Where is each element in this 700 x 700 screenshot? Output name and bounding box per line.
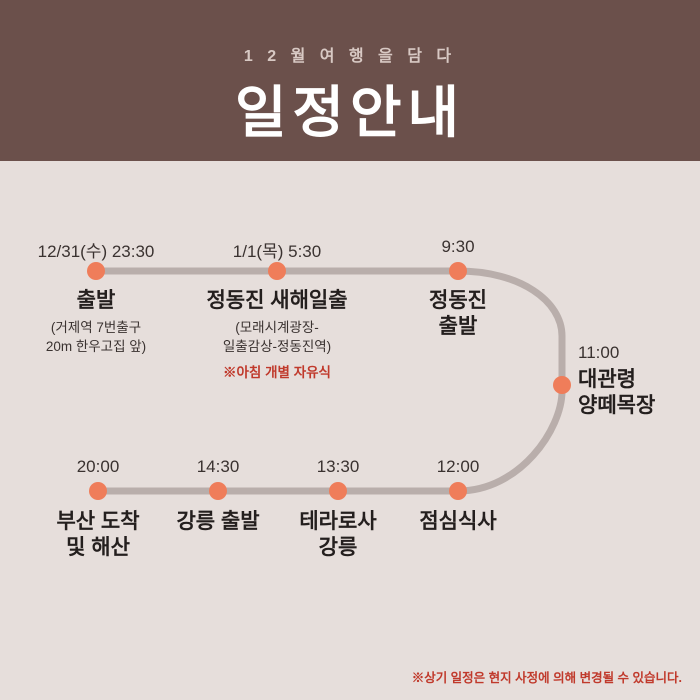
stop-note-2: ※아침 개별 자유식: [107, 361, 447, 381]
header-subtitle: 1 2 월 여 행 을 담 다: [0, 42, 700, 66]
stop-node-7[interactable]: [209, 482, 227, 500]
stop-time-5: 12:00: [437, 457, 480, 477]
stop-time-2: 1/1(목) 5:30: [233, 237, 321, 262]
stop-node-1[interactable]: [87, 262, 105, 280]
stop-node-5[interactable]: [449, 482, 467, 500]
footnote: ※상기 일정은 현지 사정에 의해 변경될 수 있습니다.: [412, 667, 682, 686]
stop-label-3: 정동진 출발: [338, 288, 578, 339]
stop-time-8: 20:00: [77, 457, 120, 477]
stop-node-4[interactable]: [553, 376, 571, 394]
stop-node-6[interactable]: [329, 482, 347, 500]
stop-time-7: 14:30: [197, 457, 240, 477]
stop-time-6: 13:30: [317, 457, 360, 477]
stop-node-3[interactable]: [449, 262, 467, 280]
itinerary-timeline-diagram: 12/31(수) 23:30 출발 (거제역 7번출구 20m 한우고집 앞) …: [0, 161, 700, 700]
stop-name-8: 부산 도착 및 해산: [0, 509, 203, 560]
stop-name-4: 대관령 양떼목장: [578, 367, 700, 418]
header-banner: 1 2 월 여 행 을 담 다 일정안내: [0, 0, 700, 161]
page-title: 일정안내: [0, 68, 700, 149]
stop-time-4: 11:00: [578, 343, 700, 363]
stop-time-1: 12/31(수) 23:30: [38, 237, 155, 262]
stop-time-3: 9:30: [441, 237, 474, 257]
stop-label-8: 부산 도착 및 해산: [0, 509, 203, 560]
stop-node-2[interactable]: [268, 262, 286, 280]
stop-label-4: 11:00 대관령 양떼목장: [578, 343, 700, 418]
stop-name-3: 정동진 출발: [338, 288, 578, 339]
stop-node-8[interactable]: [89, 482, 107, 500]
